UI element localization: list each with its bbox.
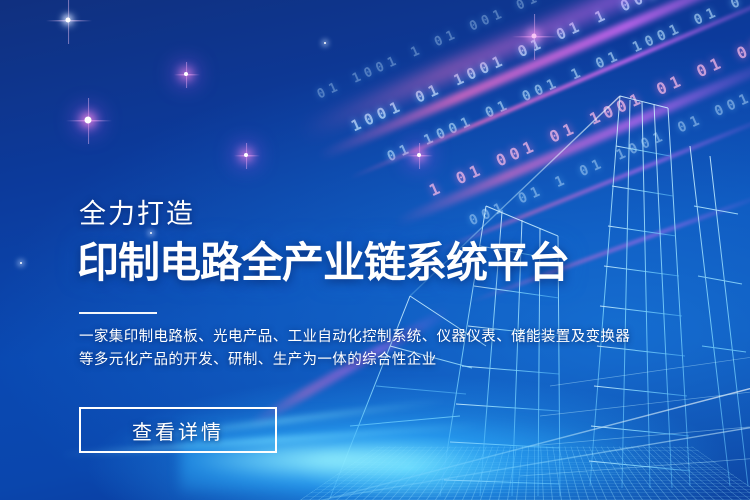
sparkle-icon <box>68 20 69 21</box>
hero-description-line-2: 等多元化产品的开发、研制、生产为一体的综合性企业 <box>79 349 549 372</box>
hero-headline: 印制电路全产业链系统平台 <box>77 237 569 289</box>
star-icon <box>20 262 22 264</box>
hero-eyebrow: 全力打造 <box>79 198 195 231</box>
star-icon <box>66 18 68 20</box>
hero-description: 一家集印制电路板、光电产品、工业自动化控制系统、仪器仪表、储能装置及变换器 等多… <box>79 326 549 372</box>
view-details-button-label: 查看详情 <box>132 416 224 445</box>
hero-description-line-1: 一家集印制电路板、光电产品、工业自动化控制系统、仪器仪表、储能装置及变换器 <box>79 326 549 349</box>
hero-banner: 1001 01 1001 01 01 1 001 01 001 01 01 10… <box>0 0 750 500</box>
view-details-button[interactable]: 查看详情 <box>79 407 277 453</box>
sparkle-core-icon <box>66 18 71 23</box>
hero-content: 全力打造 印制电路全产业链系统平台 一家集印制电路板、光电产品、工业自动化控制系… <box>79 0 679 500</box>
divider-rule <box>79 312 157 314</box>
